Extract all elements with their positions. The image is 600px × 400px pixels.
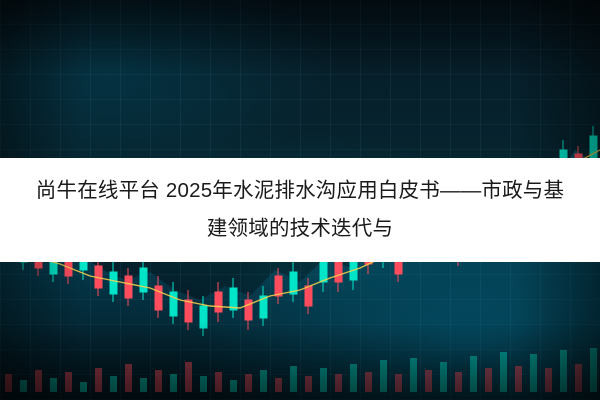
screenshot-canvas: 尚牛在线平台 2025年水泥排水沟应用白皮书——市政与基建领域的技术迭代与	[0, 0, 600, 400]
page-title: 尚牛在线平台 2025年水泥排水沟应用白皮书——市政与基建领域的技术迭代与	[14, 172, 586, 248]
headline-band: 尚牛在线平台 2025年水泥排水沟应用白皮书——市政与基建领域的技术迭代与	[0, 158, 600, 262]
